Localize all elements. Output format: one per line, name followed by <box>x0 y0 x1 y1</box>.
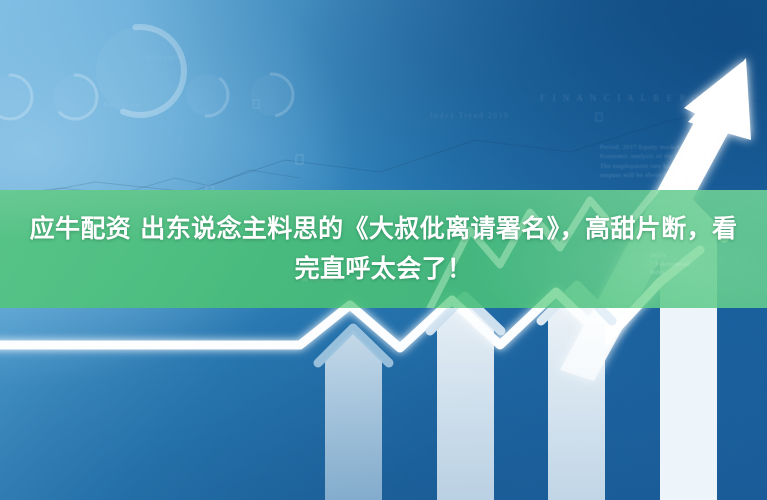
promo-banner: F I N A N C I A L R E P O R T S Index Tr… <box>0 0 767 500</box>
title-green-band: 2017a 7 Tokonomical Index 7, 2016 discou… <box>0 190 767 308</box>
banner-title: 应牛配资 出东说念主料思的《大叔仳离请署名》，高甜片断，看完直呼太会了！ <box>14 209 754 289</box>
